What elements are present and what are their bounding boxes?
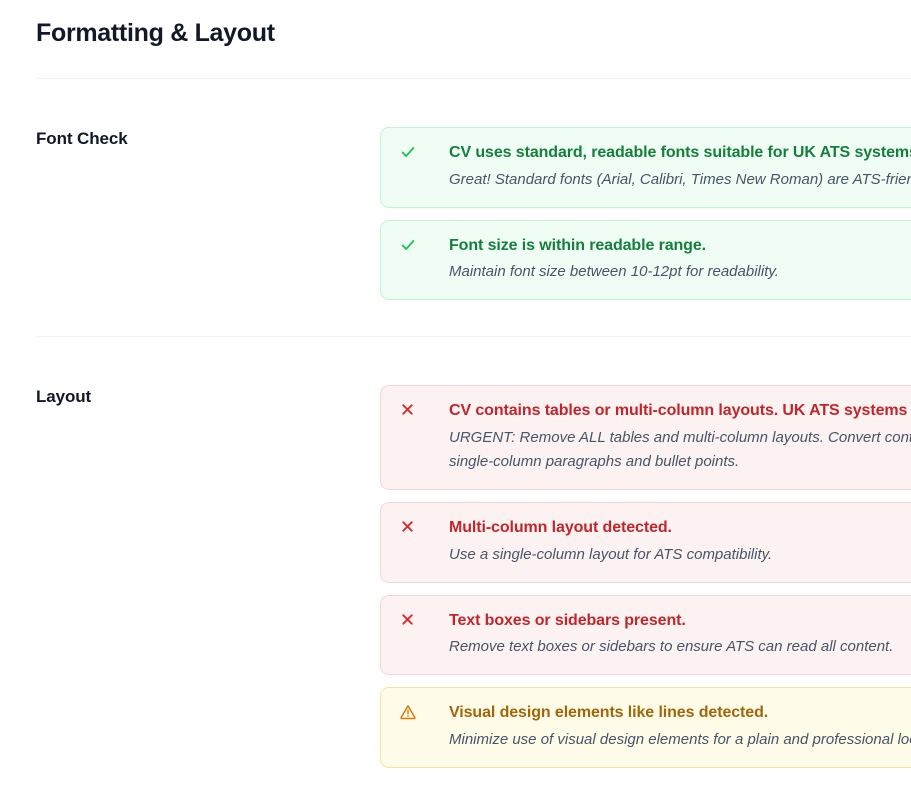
result-card-body: Multi-column layout detected. Use a sing… (427, 517, 911, 567)
result-card[interactable]: Visual design elements like lines detect… (380, 687, 911, 768)
result-card-body: Text boxes or sidebars present. Remove t… (427, 610, 911, 660)
cross-icon (399, 400, 427, 418)
cross-icon (399, 517, 427, 535)
result-card[interactable]: Font size is within readable range. Main… (380, 220, 911, 301)
result-card-description: Great! Standard fonts (Arial, Calibri, T… (449, 168, 911, 192)
warning-triangle-icon (399, 702, 427, 721)
result-card-description: URGENT: Remove ALL tables and multi-colu… (449, 426, 911, 474)
section-layout: Layout CV contains tables or multi-colum… (0, 337, 911, 767)
result-card-title: CV uses standard, readable fonts suitabl… (449, 142, 911, 164)
result-card-body: Font size is within readable range. Main… (427, 235, 911, 285)
result-card[interactable]: Text boxes or sidebars present. Remove t… (380, 595, 911, 676)
result-card-title: Text boxes or sidebars present. (449, 610, 911, 632)
result-card-title: CV contains tables or multi-column layou… (449, 400, 911, 422)
result-card[interactable]: CV uses standard, readable fonts suitabl… (380, 127, 911, 208)
formatting-layout-page: Formatting & Layout Font Check CV uses s… (0, 0, 911, 797)
result-card-body: Visual design elements like lines detect… (427, 702, 911, 752)
result-card-description: Use a single-column layout for ATS compa… (449, 543, 911, 567)
section-label-layout: Layout (36, 387, 380, 407)
result-card[interactable]: CV contains tables or multi-column layou… (380, 385, 911, 490)
check-icon (399, 235, 427, 254)
result-card-title: Font size is within readable range. (449, 235, 911, 257)
page-title: Formatting & Layout (36, 18, 875, 49)
section-cards-layout: CV contains tables or multi-column layou… (380, 385, 911, 767)
section-font-check: Font Check CV uses standard, readable fo… (0, 79, 911, 300)
result-card-title: Multi-column layout detected. (449, 517, 911, 539)
section-label-font-check: Font Check (36, 129, 380, 149)
section-label-column: Font Check (0, 127, 380, 149)
section-cards-font-check: CV uses standard, readable fonts suitabl… (380, 127, 911, 300)
page-header: Formatting & Layout (0, 0, 911, 49)
check-icon (399, 142, 427, 161)
result-card-body: CV contains tables or multi-column layou… (427, 400, 911, 474)
result-card-description: Remove text boxes or sidebars to ensure … (449, 635, 911, 659)
cross-icon (399, 610, 427, 628)
result-card-body: CV uses standard, readable fonts suitabl… (427, 142, 911, 192)
result-card-title: Visual design elements like lines detect… (449, 702, 911, 724)
result-card-description: Maintain font size between 10-12pt for r… (449, 260, 911, 284)
result-card-description: Minimize use of visual design elements f… (449, 728, 911, 752)
section-label-column: Layout (0, 385, 380, 407)
result-card[interactable]: Multi-column layout detected. Use a sing… (380, 502, 911, 583)
